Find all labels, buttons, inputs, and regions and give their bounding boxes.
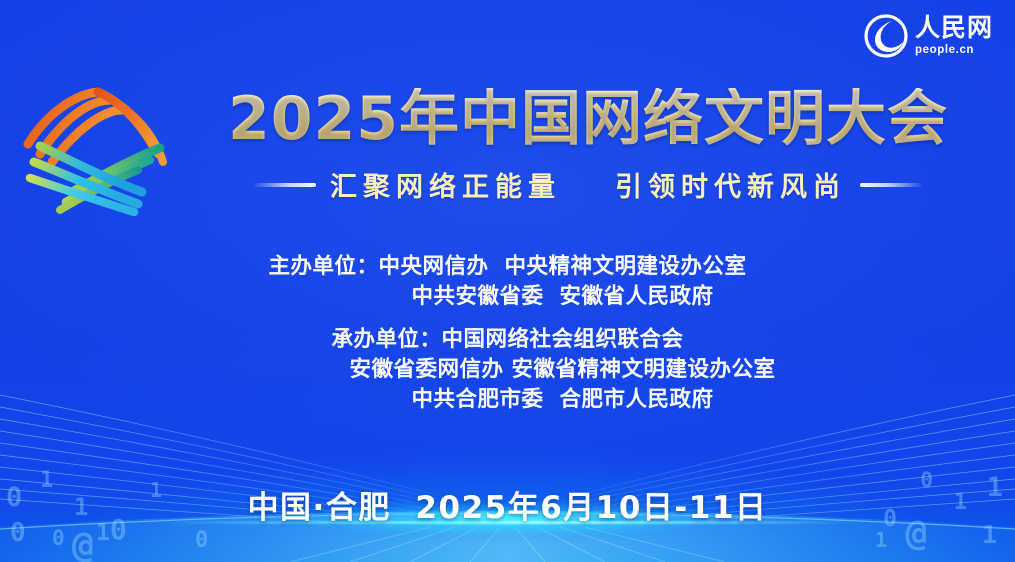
host-organizers: 主办单位：中央网信办 中央精神文明建设办公室 中共安徽省委 安徽省人民政府 xyxy=(0,252,1015,311)
host-line: 主办单位：中央网信办 中央精神文明建设办公室 xyxy=(0,252,1015,282)
decorative-dash-right-icon xyxy=(860,183,922,187)
organizers-block: 主办单位：中央网信办 中央精神文明建设办公室 中共安徽省委 安徽省人民政府 承办… xyxy=(0,252,1015,428)
decorative-dash-left-icon xyxy=(254,183,316,187)
host-line: 中共安徽省委 安徽省人民政府 xyxy=(0,282,1015,312)
co-host-line: 承办单位：中国网络社会组织联合会 xyxy=(0,325,1015,355)
conference-poster: 0 1 1 0 0 1 1 0 0 @ 1 1 0 1 0 1 @ 人民网 pe… xyxy=(0,0,1015,562)
subtitle-row: 汇聚网络正能量 引领时代新风尚 xyxy=(178,165,998,204)
title-block: 2025年中国网络文明大会 汇聚网络正能量 引领时代新风尚 xyxy=(178,88,998,204)
brand-text: 人民网 people.cn xyxy=(915,15,993,57)
brand-name-cn: 人民网 xyxy=(915,15,993,40)
co-host-line: 中共合肥市委 合肥市人民政府 xyxy=(0,385,1015,415)
page-title: 2025年中国网络文明大会 xyxy=(178,88,998,151)
subtitle-right: 引领时代新风尚 xyxy=(615,165,846,204)
event-date-location: 中国·合肥 2025年6月10日-11日 xyxy=(0,482,1015,527)
co-host-line: 安徽省委网信办 安徽省精神文明建设办公室 xyxy=(0,355,1015,385)
people-cn-logo[interactable]: 人民网 people.cn xyxy=(864,14,993,58)
subtitle-left: 汇聚网络正能量 xyxy=(330,165,561,204)
brand-name-en: people.cn xyxy=(915,45,974,57)
co-host-organizers: 承办单位：中国网络社会组织联合会 安徽省委网信办 安徽省精神文明建设办公室 中共… xyxy=(0,325,1015,414)
people-globe-icon xyxy=(864,14,908,58)
conference-arcs-logo xyxy=(18,82,173,217)
